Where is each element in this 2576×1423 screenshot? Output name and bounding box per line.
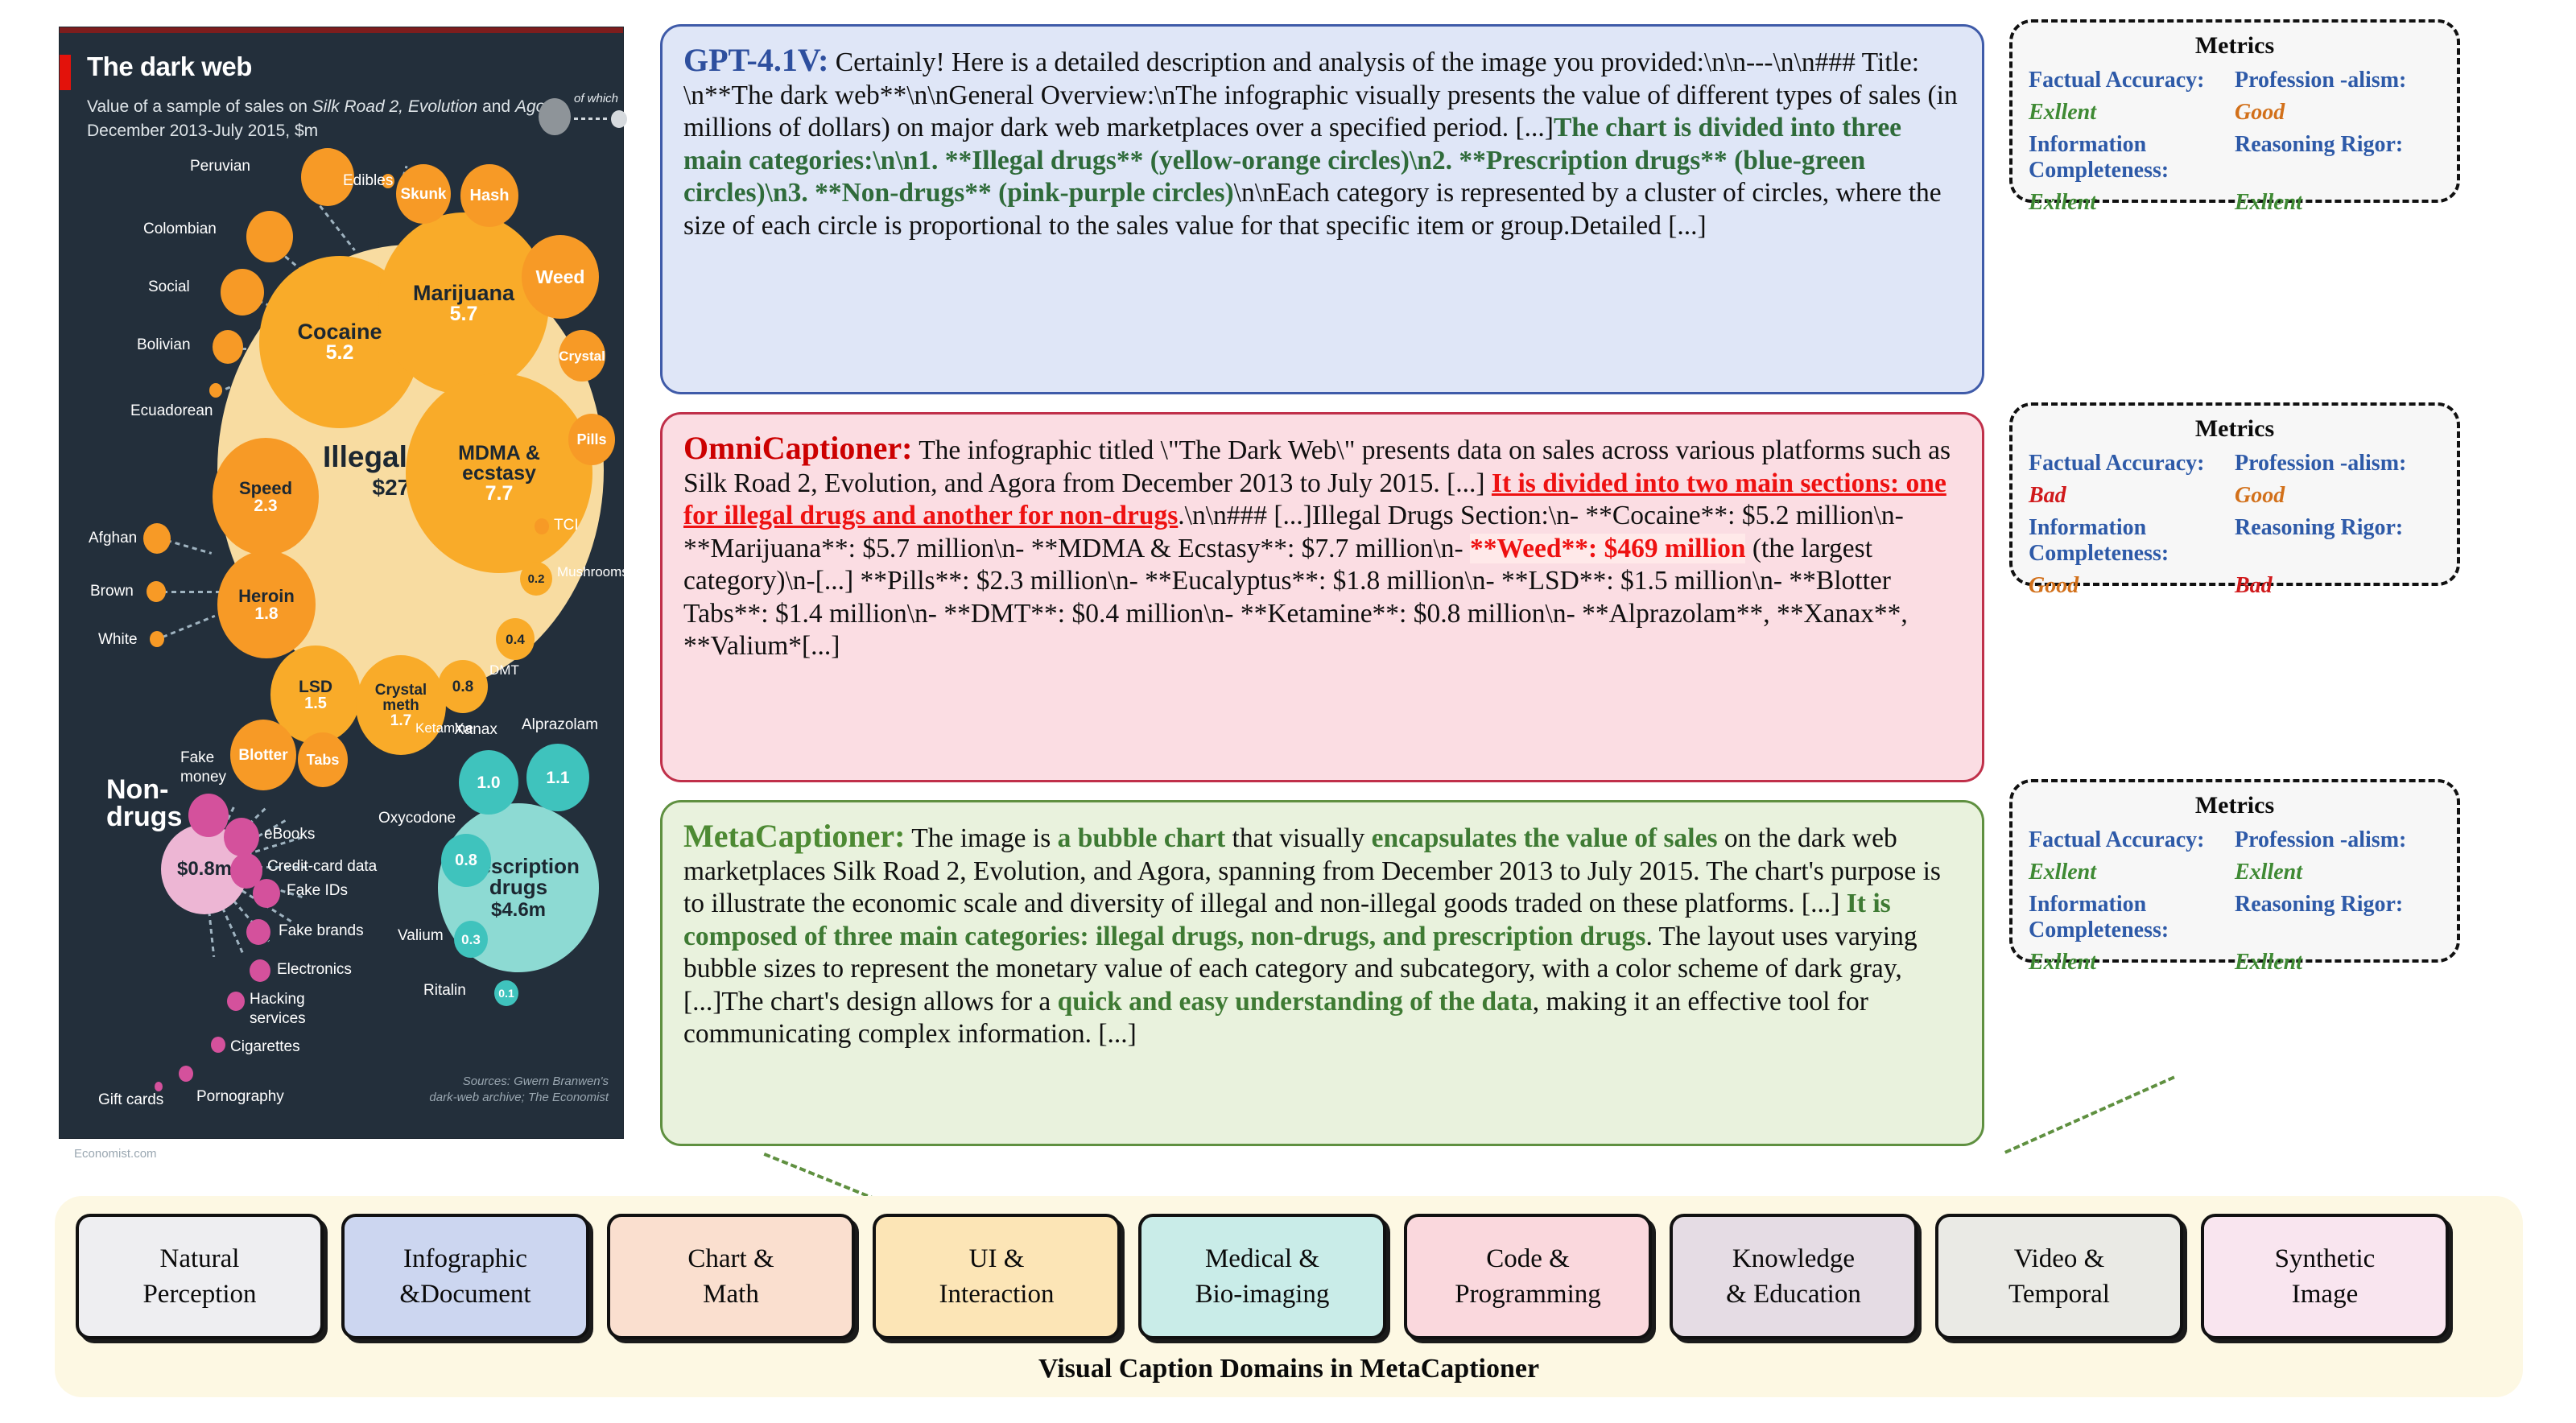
label-hacking-services: Hacking services <box>250 990 330 1029</box>
metric-value-rigor-meta: Exllent <box>2235 947 2441 979</box>
metrics-title-gpt: Metrics <box>2029 32 2441 60</box>
infographic-title: The dark web <box>87 52 252 82</box>
label-cigarettes: Cigarettes <box>230 1038 300 1056</box>
oxycodone-value: 0.8 <box>455 852 477 868</box>
label-tci: TCI <box>554 517 579 534</box>
domain-line-2: Bio-imaging <box>1195 1280 1330 1309</box>
label-afghan: Afghan <box>89 530 137 547</box>
weed-label: Weed <box>536 268 585 287</box>
metrics-card-gpt: Metrics Factual Accuracy: Profession -al… <box>2009 19 2460 203</box>
subtitle-line-2: December 2013-July 2015, $m <box>87 122 318 140</box>
domain-chip-label: Medical &Bio-imaging <box>1195 1241 1330 1312</box>
hash-label: Hash <box>470 188 510 204</box>
domain-chip-medical-bio-imaging[interactable]: Medical &Bio-imaging <box>1138 1214 1386 1339</box>
meta-seg-1: The image is <box>905 823 1057 853</box>
label-alprazolam: Alprazolam <box>522 716 598 734</box>
non-drugs-title-line1: Non- <box>106 774 168 805</box>
label-fake-ids: Fake IDs <box>287 882 348 900</box>
domain-chip-ui-interaction[interactable]: UI &Interaction <box>873 1214 1121 1339</box>
bubble-crystal-meth: Crystal meth 1.7 <box>356 655 446 755</box>
meta-highlight-1: a bubble chart <box>1058 823 1225 853</box>
domain-chip-label: SyntheticImage <box>2275 1241 2376 1312</box>
ritalin-value: 0.1 <box>498 988 514 999</box>
leader-line-right <box>2004 1075 2175 1153</box>
xanax-value: 1.0 <box>477 774 500 791</box>
label-ecuadorean: Ecuadorean <box>130 402 213 420</box>
domain-chip-label: Infographic&Document <box>399 1241 530 1312</box>
cocaine-label: Cocaine <box>297 321 382 343</box>
cocaine-value: 5.2 <box>326 343 354 363</box>
mdma-label-1: MDMA & <box>458 443 540 464</box>
bubble-colombian <box>246 211 293 262</box>
metrics-card-omni: Metrics Factual Accuracy: Profession -al… <box>2009 402 2460 586</box>
label-colombian: Colombian <box>143 221 217 238</box>
dmt-value: 0.4 <box>506 633 525 646</box>
bubble-speed: Speed 2.3 <box>213 438 319 555</box>
marijuana-label: Marijuana <box>413 283 514 304</box>
domain-line-1: Video & <box>2014 1244 2105 1273</box>
legend-connector <box>574 118 609 120</box>
domain-chip-natural-perception[interactable]: NaturalPerception <box>76 1214 324 1339</box>
bubble-fake-money <box>188 794 229 837</box>
label-electronics: Electronics <box>277 961 352 979</box>
ketamine-value: 0.8 <box>452 679 473 695</box>
label-mushrooms: Mushrooms <box>557 563 629 581</box>
metric-value-professionalism-meta: Exllent <box>2235 856 2441 889</box>
domain-line-1: Code & <box>1486 1244 1570 1273</box>
lsd-label: LSD <box>299 679 332 695</box>
metric-key-completeness-omni: Information Completeness: <box>2029 515 2235 567</box>
meta-seg-2: that visually <box>1225 823 1371 853</box>
metrics-card-meta: Metrics Factual Accuracy: Profession -al… <box>2009 779 2460 963</box>
label-peruvian: Peruvian <box>190 158 250 175</box>
domain-chip-video-temporal[interactable]: Video &Temporal <box>1935 1214 2183 1339</box>
metric-value-factual-omni: Bad <box>2029 480 2235 512</box>
bubble-ritalin: 0.1 <box>494 980 518 1006</box>
metrics-grid-omni: Factual Accuracy: Profession -alism: Bad… <box>2029 451 2441 602</box>
domain-line-2: Interaction <box>939 1280 1055 1309</box>
label-brown: Brown <box>90 583 134 600</box>
domain-line-1: Infographic <box>403 1244 527 1273</box>
domain-line-2: & Education <box>1726 1280 1861 1309</box>
bubble-dmt: 0.4 <box>496 618 535 660</box>
page-root: The dark web Value of a sample of sales … <box>0 0 2576 1423</box>
metric-key-rigor-gpt: Reasoning Rigor: <box>2235 132 2441 184</box>
domain-line-1: UI & <box>969 1244 1025 1273</box>
label-white: White <box>98 631 138 649</box>
domain-line-1: Natural <box>160 1244 240 1273</box>
heroin-value: 1.8 <box>254 605 278 622</box>
panel-omnicaptioner: OmniCaptioner: The infographic titled \"… <box>660 412 1984 782</box>
domain-chip-label: Chart &Math <box>687 1241 774 1312</box>
gpt-tag: GPT-4.1V: <box>683 42 828 78</box>
omni-tag: OmniCaptioner: <box>683 430 912 466</box>
metrics-title-omni: Metrics <box>2029 415 2441 443</box>
metric-value-completeness-meta: Exllent <box>2029 947 2235 979</box>
bubble-skunk: Skunk <box>396 164 451 224</box>
domain-chip-infographic-document[interactable]: Infographic&Document <box>341 1214 589 1339</box>
connector-white <box>162 615 215 638</box>
bubble-ebooks <box>224 818 259 856</box>
mdma-value: 7.7 <box>485 484 514 504</box>
alprazolam-value: 1.1 <box>546 769 569 786</box>
domain-line-2: Math <box>703 1280 759 1309</box>
metric-key-professionalism-omni: Profession -alism: <box>2235 451 2441 476</box>
panel-gpt: GPT-4.1V: Certainly! Here is a detailed … <box>660 24 1984 394</box>
skunk-label: Skunk <box>400 187 446 202</box>
metric-value-rigor-omni: Bad <box>2235 570 2441 602</box>
omni-highlight-2: **Weed**: $469 million <box>1470 534 1745 563</box>
domain-line-2: Temporal <box>2008 1280 2110 1309</box>
marijuana-value: 5.7 <box>450 304 478 324</box>
non-drugs-title-line2: drugs <box>106 802 182 832</box>
bubble-white <box>150 631 164 647</box>
domain-bar-caption: Visual Caption Domains in MetaCaptioner <box>55 1354 2523 1384</box>
domain-row: NaturalPerception Infographic&Document C… <box>76 1214 2449 1339</box>
domain-chip-chart-math[interactable]: Chart &Math <box>607 1214 855 1339</box>
label-ritalin: Ritalin <box>423 982 466 1000</box>
metric-value-factual-meta: Exllent <box>2029 856 2235 889</box>
metrics-title-meta: Metrics <box>2029 792 2441 819</box>
metric-key-factual-meta: Factual Accuracy: <box>2029 827 2235 853</box>
label-credit-card-data: Credit-card data <box>267 858 377 876</box>
metric-key-factual-omni: Factual Accuracy: <box>2029 451 2235 476</box>
label-fake-brands: Fake brands <box>279 922 364 940</box>
bubble-weed: Weed <box>522 235 599 319</box>
label-gift-cards: Gift cards <box>98 1091 163 1109</box>
bubble-pills: Pills <box>568 414 615 465</box>
metrics-grid-meta: Factual Accuracy: Profession -alism: Exl… <box>2029 827 2441 979</box>
bubble-valium: 0.3 <box>454 921 488 958</box>
metric-value-rigor-gpt: Exllent <box>2235 187 2441 219</box>
legend-big-circle <box>539 98 571 135</box>
bubble-heroin: Heroin 1.8 <box>217 551 316 658</box>
bubble-tci <box>535 518 549 534</box>
bubble-brown <box>147 581 166 602</box>
bubble-fake-brands <box>246 919 270 945</box>
subtitle-italic-1: Silk Road 2, Evolution <box>312 97 477 116</box>
subtitle-mid: and <box>477 97 515 116</box>
domain-chip-synthetic-image[interactable]: SyntheticImage <box>2201 1214 2449 1339</box>
bubble-cigarettes <box>211 1037 225 1053</box>
metric-key-professionalism-meta: Profession -alism: <box>2235 827 2441 853</box>
economist-red-tick <box>60 55 71 90</box>
non-drugs-value: $0.8m <box>177 860 232 879</box>
label-fake-money: Fake money <box>180 749 253 787</box>
domain-bar: NaturalPerception Infographic&Document C… <box>55 1196 2523 1397</box>
bubble-mdma-ecstasy: MDMA & ecstasy 7.7 <box>406 373 592 573</box>
label-oxycodone: Oxycodone <box>378 810 456 827</box>
domain-chip-label: Video &Temporal <box>2008 1241 2110 1312</box>
domain-line-1: Knowledge <box>1732 1244 1855 1273</box>
metrics-grid-gpt: Factual Accuracy: Profession -alism: Exl… <box>2029 68 2441 219</box>
bubble-afghan <box>143 523 171 554</box>
bubble-marijuana: Marijuana 5.7 <box>378 212 549 394</box>
bubble-alprazolam: 1.1 <box>526 744 589 811</box>
crystal-meth-label-2: meth <box>382 698 419 713</box>
valium-value: 0.3 <box>461 933 481 947</box>
mdma-label-2: ecstasy <box>462 464 536 484</box>
bubble-bolivian <box>213 330 243 364</box>
top-red-bar <box>60 27 623 33</box>
domain-line-2: &Document <box>399 1280 530 1309</box>
meta-highlight-2: encapsulates the value of sales <box>1372 823 1718 853</box>
domain-chip-knowledge-education[interactable]: Knowledge& Education <box>1670 1214 1918 1339</box>
bubble-electronics <box>250 959 270 982</box>
bubble-social <box>221 269 264 316</box>
connector-afghan <box>167 539 213 555</box>
bubble-ketamine: 0.8 <box>438 660 488 713</box>
meta-tag: MetaCaptioner: <box>683 818 905 854</box>
bubble-hacking-services <box>227 992 245 1011</box>
metric-value-completeness-gpt: Exllent <box>2029 187 2235 219</box>
label-ebooks: eBooks <box>264 826 315 843</box>
metric-key-completeness-meta: Information Completeness: <box>2029 892 2235 943</box>
bubble-ecuadorean <box>209 383 222 398</box>
domain-line-2: Image <box>2292 1280 2358 1309</box>
legend-small-circle <box>611 110 627 128</box>
lsd-value: 1.5 <box>304 695 327 711</box>
bubble-crystal: Crystal <box>559 330 605 382</box>
panel-metacaptioner: MetaCaptioner: The image is a bubble cha… <box>660 800 1984 1146</box>
crystal-label: Crystal <box>559 349 605 363</box>
connector-brown <box>163 591 219 593</box>
domain-line-1: Chart & <box>687 1244 774 1273</box>
prescription-label-2: drugs <box>489 876 547 897</box>
source-line-2: dark-web archive; The Economist <box>429 1091 609 1104</box>
tabs-label: Tabs <box>307 753 340 767</box>
metric-value-completeness-omni: Good <box>2029 570 2235 602</box>
source-line-1: Sources: Gwern Branwen's <box>463 1074 609 1088</box>
label-pornography: Pornography <box>196 1088 284 1106</box>
speed-value: 2.3 <box>254 497 277 514</box>
bubble-fake-ids <box>253 879 280 908</box>
bubble-gift-cards <box>155 1082 163 1091</box>
bubble-pornography <box>179 1066 193 1082</box>
bubble-tabs: Tabs <box>298 732 348 787</box>
metric-value-professionalism-omni: Good <box>2235 480 2441 512</box>
pills-label: Pills <box>576 432 606 447</box>
prescription-value: $4.6m <box>491 901 546 920</box>
bubble-mushrooms: 0.2 <box>520 562 552 596</box>
heroin-label: Heroin <box>238 588 295 605</box>
crystal-meth-label-1: Crystal <box>375 683 427 698</box>
domain-line-1: Synthetic <box>2275 1244 2376 1273</box>
label-social: Social <box>148 278 190 296</box>
domain-chip-label: UI &Interaction <box>939 1241 1055 1312</box>
label-edibles: Edibles <box>343 172 393 190</box>
dark-web-infographic: The dark web Value of a sample of sales … <box>60 27 623 1138</box>
speed-label: Speed <box>239 480 292 497</box>
subtitle-pre: Value of a sample of sales on <box>87 97 312 116</box>
label-dmt: DMT <box>489 662 519 679</box>
bubble-hash: Hash <box>460 164 518 227</box>
infographic-subtitle: Value of a sample of sales on Silk Road … <box>87 95 602 143</box>
metric-key-rigor-omni: Reasoning Rigor: <box>2235 515 2441 567</box>
legend-label: of which <box>574 90 618 108</box>
non-drugs-title: Non- drugs <box>106 776 182 831</box>
metric-value-professionalism-gpt: Good <box>2235 97 2441 129</box>
domain-line-2: Perception <box>142 1280 256 1309</box>
mushrooms-value: 0.2 <box>528 573 545 585</box>
infographic-sources: Sources: Gwern Branwen's dark-web archiv… <box>429 1074 609 1106</box>
metric-key-completeness-gpt: Information Completeness: <box>2029 132 2235 184</box>
meta-highlight-4: quick and easy understanding of the data <box>1058 987 1533 1017</box>
label-valium: Valium <box>398 927 444 945</box>
metric-key-factual-gpt: Factual Accuracy: <box>2029 68 2235 93</box>
bubble-oxycodone: 0.8 <box>441 834 491 887</box>
economist-brand: Economist.com <box>74 1147 157 1161</box>
metric-value-factual-gpt: Exllent <box>2029 97 2235 129</box>
metric-key-rigor-meta: Reasoning Rigor: <box>2235 892 2441 943</box>
meta-text: MetaCaptioner: The image is a bubble cha… <box>683 820 1961 1051</box>
domain-chip-label: Code &Programming <box>1455 1241 1600 1312</box>
label-bolivian: Bolivian <box>137 336 191 354</box>
metric-key-professionalism-gpt: Profession -alism: <box>2235 68 2441 93</box>
crystal-meth-value: 1.7 <box>390 713 411 728</box>
domain-chip-label: NaturalPerception <box>142 1241 256 1312</box>
domain-line-2: Programming <box>1455 1280 1600 1309</box>
domain-chip-label: Knowledge& Education <box>1726 1241 1861 1312</box>
omni-text: OmniCaptioner: The infographic titled \"… <box>683 432 1961 663</box>
domain-chip-code-programming[interactable]: Code &Programming <box>1404 1214 1652 1339</box>
gpt-text: GPT-4.1V: Certainly! Here is a detailed … <box>683 44 1961 242</box>
label-xanax: Xanax <box>454 721 497 739</box>
bubble-xanax: 1.0 <box>459 750 518 815</box>
domain-line-1: Medical & <box>1205 1244 1319 1273</box>
